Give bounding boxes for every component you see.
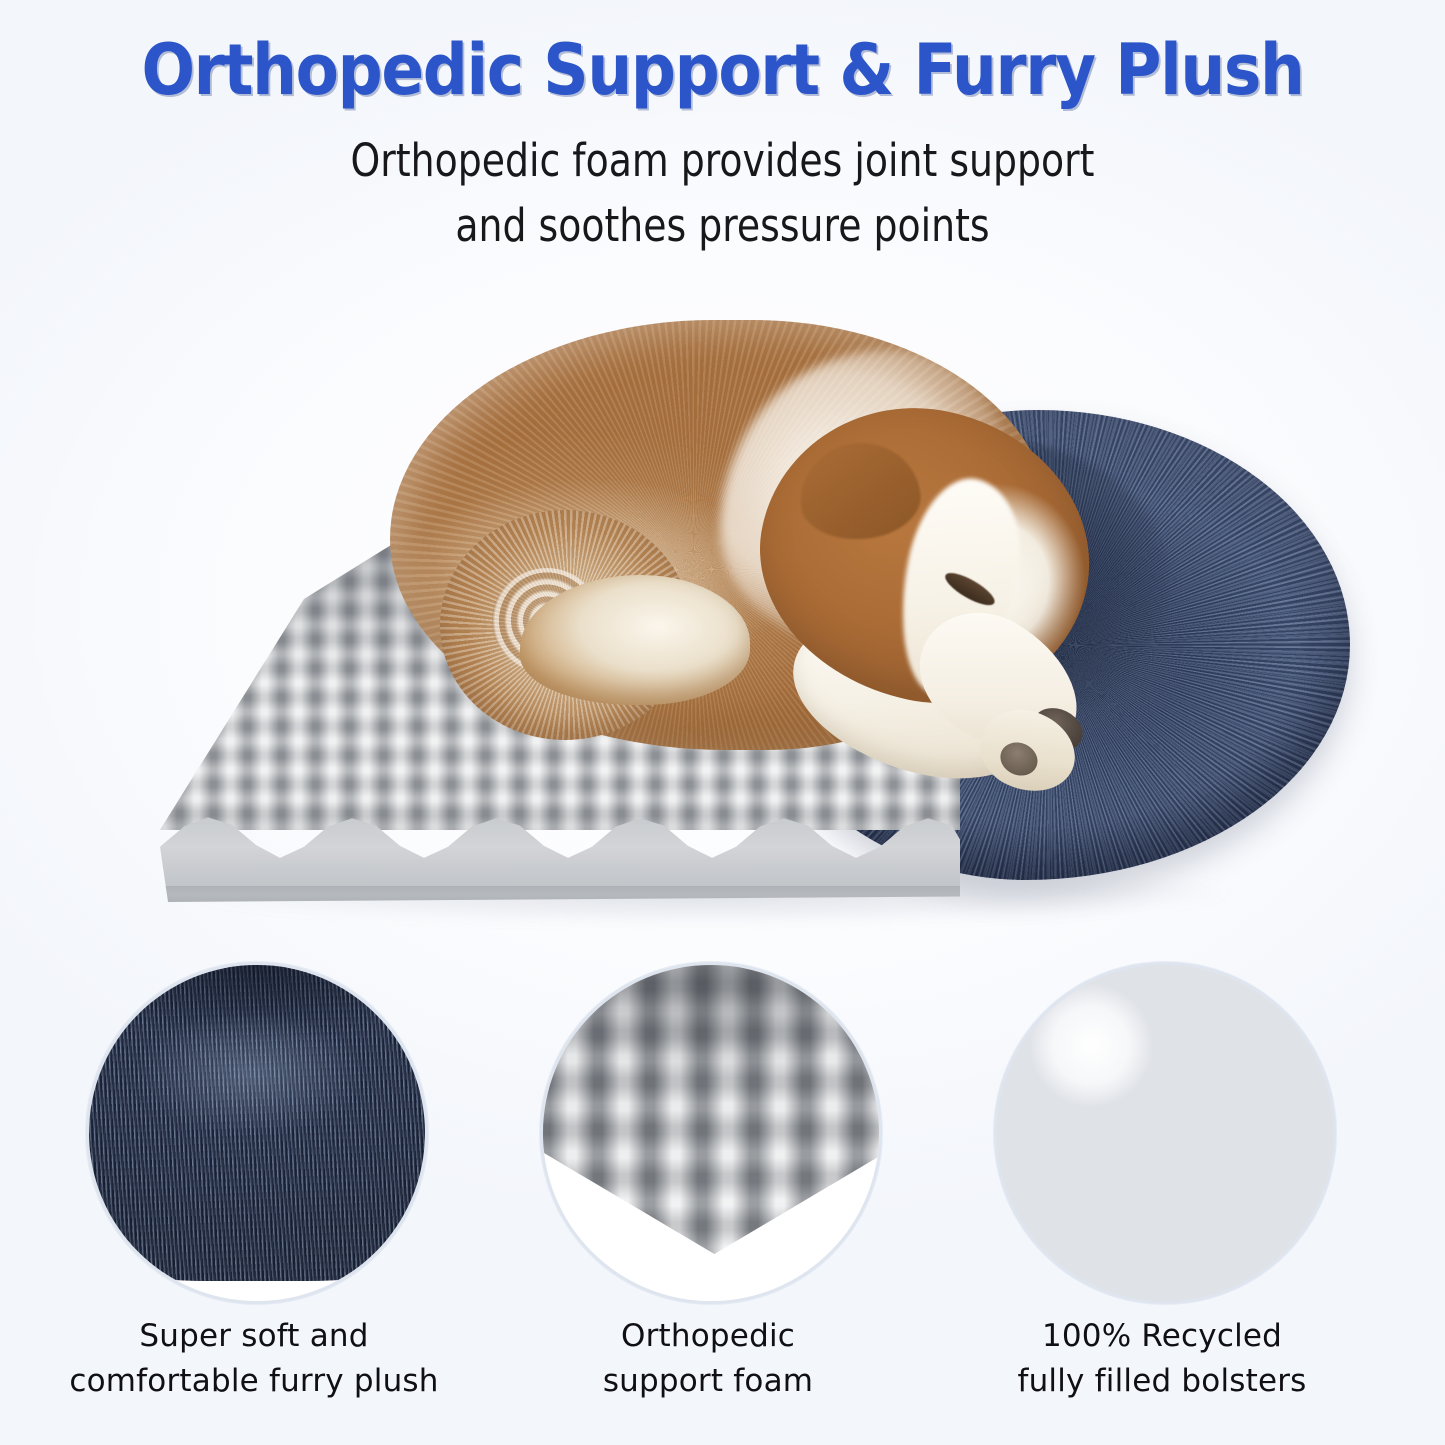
feature-item-fiberfill: 100% Recycled fully filled bolsters: [994, 962, 1330, 1352]
feature-caption-plush: Super soft and comfortable furry plush: [44, 1314, 464, 1404]
plush-swatch-image: [89, 965, 425, 1301]
hero-product-image: [150, 300, 1330, 950]
fiberfill-swatch-icon: [994, 962, 1336, 1304]
plush-fur-texture: [86, 962, 428, 1281]
feature-caption-foam-line-2: support foam: [498, 1359, 918, 1404]
page-subtitle: Orthopedic foam provides joint support a…: [116, 128, 1330, 258]
page-title: Orthopedic Support & Furry Plush: [72, 34, 1373, 106]
subtitle-line-2: and soothes pressure points: [116, 193, 1330, 258]
product-feature-page: Orthopedic Support & Furry Plush Orthope…: [0, 0, 1445, 1445]
feature-caption-plush-line-1: Super soft and: [44, 1314, 464, 1359]
feature-highlights: Super soft and comfortable furry plush O…: [0, 962, 1445, 1362]
fiberfill-swatch-image: [997, 965, 1333, 1301]
subtitle-line-1: Orthopedic foam provides joint support: [351, 134, 1095, 187]
plush-fabric-swatch-icon: [86, 962, 428, 1304]
dog-ear: [795, 437, 924, 545]
sleeping-dog: [360, 320, 1120, 800]
feature-caption-fiberfill-line-1: 100% Recycled: [952, 1314, 1372, 1359]
feature-caption-fiberfill: 100% Recycled fully filled bolsters: [952, 1314, 1372, 1404]
feature-caption-foam-line-1: Orthopedic: [498, 1314, 918, 1359]
feature-item-foam: Orthopedic support foam: [540, 962, 876, 1352]
foam-swatch-texture: [540, 962, 882, 1254]
feature-caption-foam: Orthopedic support foam: [498, 1314, 918, 1404]
fiberfill-texture: [997, 965, 1333, 1301]
feature-item-plush: Super soft and comfortable furry plush: [86, 962, 422, 1352]
dog-paw-pad: [995, 737, 1043, 782]
feature-caption-plush-line-2: comfortable furry plush: [44, 1359, 464, 1404]
feature-caption-fiberfill-line-2: fully filled bolsters: [952, 1359, 1372, 1404]
egg-crate-foam-swatch-icon: [540, 962, 882, 1304]
foam-swatch-image: [543, 965, 879, 1301]
